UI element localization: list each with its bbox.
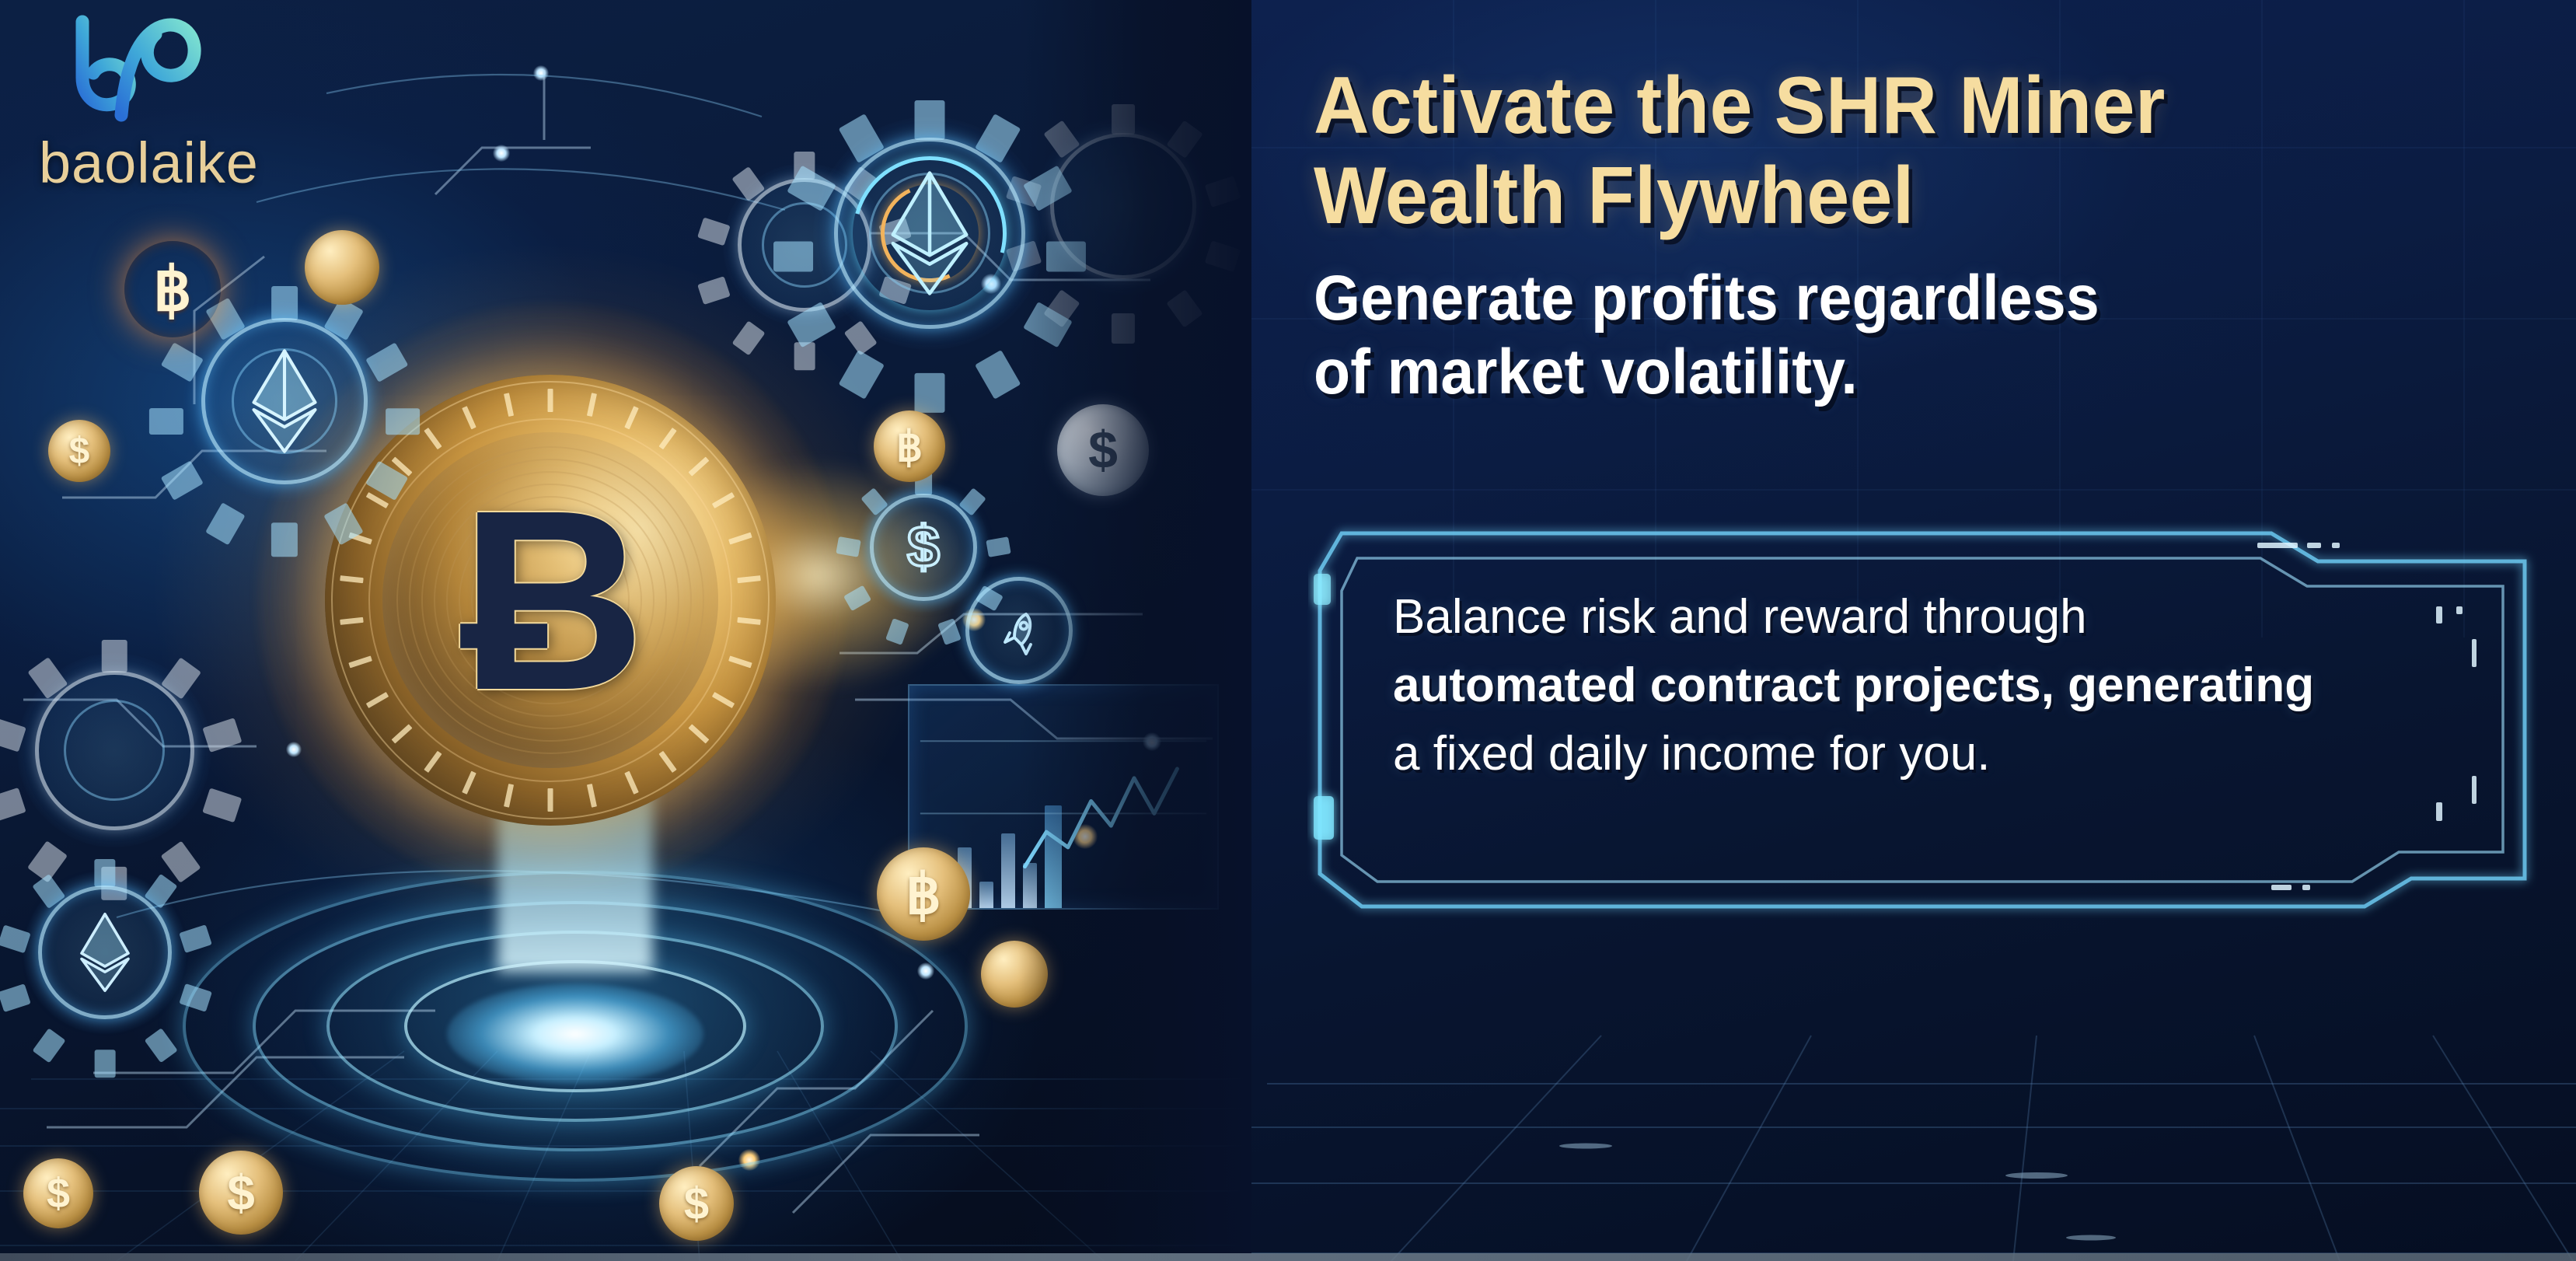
ethereum-gear-small-icon	[23, 871, 187, 1034]
ethereum-gear-icon	[813, 117, 1046, 350]
bitcoin-coin-small-icon: ฿	[877, 847, 970, 941]
page-subtitle: Generate profits regardless of market vo…	[1314, 261, 2497, 409]
coin-symbol: ฿	[906, 861, 941, 927]
gold-coin-icon: ฿	[874, 410, 945, 482]
promo-banner: Ƀ	[0, 0, 2576, 1261]
callout-text: Balance risk and reward through automate…	[1393, 583, 2497, 788]
ethereum-diamond-icon	[75, 910, 134, 994]
coin-symbol: ฿	[153, 254, 192, 325]
bitcoin-symbol: Ƀ	[325, 472, 776, 728]
ethereum-diamond-icon	[246, 346, 323, 456]
bitcoin-coin-small-icon: ฿	[124, 241, 221, 337]
dollar-gear-icon: $	[858, 482, 989, 613]
brand-logo[interactable]: baolaike	[34, 6, 259, 196]
bitcoin-coin-icon: Ƀ	[325, 375, 776, 826]
page-title: Activate the SHR Miner Wealth Flywheel	[1314, 61, 2510, 242]
mechanical-gear-icon	[17, 653, 211, 847]
headline-line-2: Wealth Flywheel	[1314, 151, 2510, 241]
content-panel: Activate the SHR Miner Wealth Flywheel G…	[1251, 0, 2576, 1261]
dollar-symbol: $	[899, 513, 948, 582]
artwork-edge-fade	[1018, 0, 1251, 1261]
callout-line-1: Balance risk and reward through	[1393, 583, 2497, 651]
subheadline-line-1: Generate profits regardless	[1314, 261, 2497, 335]
coin-symbol: ฿	[896, 422, 923, 471]
coin-symbol: $	[684, 1178, 709, 1230]
callout-line-3: a fixed daily income for you.	[1393, 720, 2497, 788]
svg-text:$: $	[907, 514, 940, 579]
dollar-coin-icon: $	[199, 1151, 283, 1235]
dollar-coin-icon: $	[48, 420, 110, 482]
subheadline-line-2: of market volatility.	[1314, 335, 2497, 409]
headline-line-1: Activate the SHR Miner	[1314, 61, 2510, 151]
ethereum-gear-large-icon	[183, 300, 386, 502]
callout-frame: Balance risk and reward through automate…	[1307, 522, 2540, 924]
gold-coin-icon	[305, 230, 379, 305]
hero-artwork: Ƀ	[0, 0, 1251, 1261]
ethereum-diamond-icon	[883, 167, 976, 299]
callout-line-2: automated contract projects, generating	[1393, 651, 2497, 720]
portal-platform-icon	[179, 840, 972, 1213]
dollar-coin-icon: $	[659, 1166, 734, 1241]
brand-name: baolaike	[39, 130, 259, 196]
bp-ribbon-monogram-icon	[34, 6, 213, 142]
coin-symbol: $	[227, 1164, 255, 1221]
coin-symbol: $	[69, 430, 90, 473]
coin-symbol: $	[47, 1169, 70, 1217]
bottom-edge-strip	[0, 1253, 2576, 1261]
dollar-coin-icon: $	[23, 1158, 93, 1228]
